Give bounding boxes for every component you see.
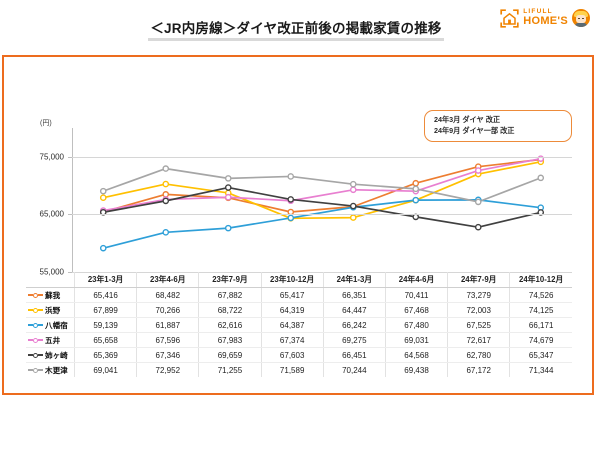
- table-header-row: 23年1-3月23年4-6月23年7-9月23年10-12月24年1-3月24年…: [26, 272, 572, 288]
- series-marker: [413, 181, 418, 186]
- table-cell: 68,722: [199, 303, 261, 318]
- table-cell: 71,589: [261, 363, 323, 378]
- table-column-header: 23年1-3月: [75, 272, 137, 288]
- table-cell: 65,369: [75, 348, 137, 363]
- y-axis-unit: (円): [40, 118, 52, 128]
- table-cell: 64,568: [385, 348, 447, 363]
- table-cell: 67,468: [385, 303, 447, 318]
- series-marker: [163, 166, 168, 171]
- table-cell: 69,275: [323, 333, 385, 348]
- legend-cell: 木更津: [26, 363, 75, 378]
- series-marker: [226, 185, 231, 190]
- table-cell: 69,041: [75, 363, 137, 378]
- y-axis-labels: 55,00065,00075,000: [0, 128, 68, 272]
- legend-line-icon: [38, 369, 43, 371]
- series-marker: [288, 197, 293, 202]
- legend-label: 姉ヶ崎: [45, 350, 68, 361]
- table-column-header: 23年10-12月: [261, 272, 323, 288]
- legend-entry: 八幡宿: [28, 320, 74, 331]
- table-row: 八幡宿59,13961,88762,61664,38766,24267,4806…: [26, 318, 572, 333]
- table-cell: 69,659: [199, 348, 261, 363]
- gridline: [72, 214, 572, 215]
- table-column-header: 24年7-9月: [448, 272, 510, 288]
- table-cell: 71,255: [199, 363, 261, 378]
- table-cell: 67,346: [137, 348, 199, 363]
- table-cell: 72,003: [448, 303, 510, 318]
- page-title: ＜JR内房線＞ダイヤ改正前後の掲載家賃の推移: [148, 20, 443, 41]
- table-cell: 71,344: [510, 363, 572, 378]
- table-cell: 74,526: [510, 288, 572, 303]
- legend-entry: 蘇我: [28, 290, 74, 301]
- legend-label: 八幡宿: [45, 320, 68, 331]
- table-cell: 66,451: [323, 348, 385, 363]
- table-cell: 68,482: [137, 288, 199, 303]
- table-cell: 64,447: [323, 303, 385, 318]
- table-cell: 61,887: [137, 318, 199, 333]
- series-marker: [226, 195, 231, 200]
- table-column-header: 24年1-3月: [323, 272, 385, 288]
- table-row: 姉ヶ崎65,36967,34669,65967,60366,45164,5686…: [26, 348, 572, 363]
- legend-label: 浜野: [45, 305, 60, 316]
- table-row: 木更津69,04172,95271,25571,58970,24469,4386…: [26, 363, 572, 378]
- series-marker: [413, 198, 418, 203]
- table-cell: 67,603: [261, 348, 323, 363]
- series-marker: [101, 189, 106, 194]
- series-marker: [101, 195, 106, 200]
- series-marker: [538, 175, 543, 180]
- y-axis-tick: [68, 214, 72, 215]
- y-axis-tick-label: 75,000: [40, 152, 64, 161]
- table-column-header: 23年4-6月: [137, 272, 199, 288]
- logo-text: LIFULL HOME'S: [523, 9, 568, 28]
- chart-plot-area: [72, 128, 572, 272]
- series-marker: [163, 181, 168, 186]
- table-cell: 72,952: [137, 363, 199, 378]
- table-cell: 67,172: [448, 363, 510, 378]
- lifull-homes-logo: LIFULL HOME'S: [500, 6, 590, 30]
- table-column-header: 24年10-12月: [510, 272, 572, 288]
- legend-cell: 浜野: [26, 303, 75, 318]
- table-cell: 72,617: [448, 333, 510, 348]
- y-axis-tick: [68, 157, 72, 158]
- table-cell: 64,387: [261, 318, 323, 333]
- table-cell: 70,411: [385, 288, 447, 303]
- table-cell: 67,596: [137, 333, 199, 348]
- series-marker: [476, 225, 481, 230]
- table-cell: 59,139: [75, 318, 137, 333]
- table-column-header: 24年4-6月: [385, 272, 447, 288]
- table-cell: 65,658: [75, 333, 137, 348]
- table-cell: 65,416: [75, 288, 137, 303]
- legend-cell: 蘇我: [26, 288, 75, 303]
- table-cell: 74,679: [510, 333, 572, 348]
- series-marker: [288, 215, 293, 220]
- table-cell: 70,266: [137, 303, 199, 318]
- series-marker: [413, 186, 418, 191]
- series-marker: [351, 215, 356, 220]
- table-cell: 67,525: [448, 318, 510, 333]
- series-marker: [226, 226, 231, 231]
- table-cell: 65,417: [261, 288, 323, 303]
- table-cell: 65,347: [510, 348, 572, 363]
- series-marker: [351, 203, 356, 208]
- table-cell: 70,244: [323, 363, 385, 378]
- table-cell: 69,438: [385, 363, 447, 378]
- legend-label: 蘇我: [45, 290, 60, 301]
- legend-entry: 姉ヶ崎: [28, 350, 74, 361]
- table-cell: 74,125: [510, 303, 572, 318]
- legend-line-icon: [38, 324, 43, 326]
- house-icon: [500, 9, 519, 28]
- table-cell: 67,480: [385, 318, 447, 333]
- series-marker: [163, 230, 168, 235]
- series-marker: [476, 168, 481, 173]
- legend-cell: 姉ヶ崎: [26, 348, 75, 363]
- legend-line-icon: [38, 294, 43, 296]
- legend-line-icon: [38, 354, 43, 356]
- series-marker: [101, 246, 106, 251]
- table-cell: 62,780: [448, 348, 510, 363]
- table-cell: 66,351: [323, 288, 385, 303]
- legend-column-header: [26, 272, 75, 288]
- table-row: 蘇我65,41668,48267,88265,41766,35170,41173…: [26, 288, 572, 303]
- table-cell: 67,374: [261, 333, 323, 348]
- series-marker: [476, 199, 481, 204]
- table-cell: 62,616: [199, 318, 261, 333]
- table-cell: 67,983: [199, 333, 261, 348]
- table-cell: 67,899: [75, 303, 137, 318]
- legend-cell: 八幡宿: [26, 318, 75, 333]
- note-line-1: 24年3月 ダイヤ 改正: [434, 115, 571, 126]
- y-axis-tick-label: 65,000: [40, 210, 64, 219]
- series-marker: [351, 182, 356, 187]
- table-row: 五井65,65867,59667,98367,37469,27569,03172…: [26, 333, 572, 348]
- gridline: [72, 157, 572, 158]
- series-line: [103, 200, 541, 248]
- legend-line-icon: [38, 339, 43, 341]
- series-marker: [163, 198, 168, 203]
- table-cell: 73,279: [448, 288, 510, 303]
- legend-entry: 浜野: [28, 305, 74, 316]
- logo-brand-main: HOME'S: [523, 16, 568, 27]
- table-column-header: 23年7-9月: [199, 272, 261, 288]
- mascot-icon: [572, 9, 590, 27]
- table-cell: 66,242: [323, 318, 385, 333]
- legend-line-icon: [38, 309, 43, 311]
- legend-label: 五井: [45, 335, 60, 346]
- data-table: 23年1-3月23年4-6月23年7-9月23年10-12月24年1-3月24年…: [26, 272, 572, 377]
- series-marker: [288, 174, 293, 179]
- table-cell: 66,171: [510, 318, 572, 333]
- table-cell: 69,031: [385, 333, 447, 348]
- chart-series-layer: [72, 128, 572, 272]
- legend-entry: 五井: [28, 335, 74, 346]
- legend-cell: 五井: [26, 333, 75, 348]
- series-marker: [351, 187, 356, 192]
- table-cell: 64,319: [261, 303, 323, 318]
- table-row: 浜野67,89970,26668,72264,31964,44767,46872…: [26, 303, 572, 318]
- legend-label: 木更津: [45, 365, 68, 376]
- table-cell: 67,882: [199, 288, 261, 303]
- series-marker: [226, 176, 231, 181]
- legend-entry: 木更津: [28, 365, 74, 376]
